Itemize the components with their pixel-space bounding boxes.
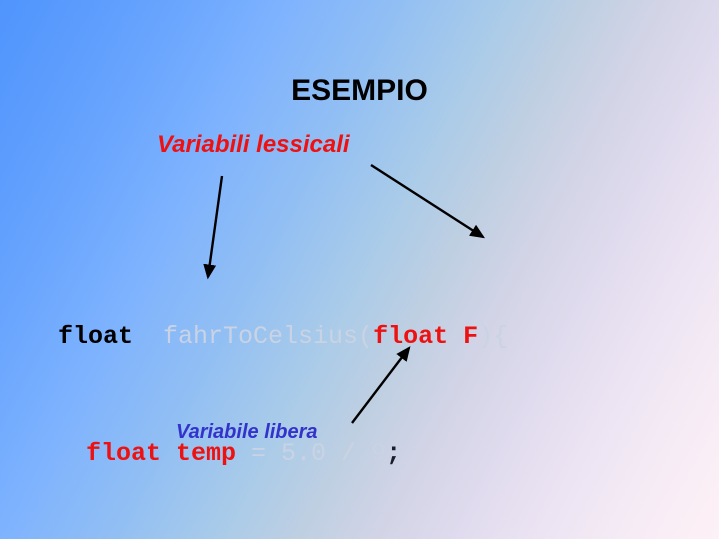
- code-token: ){: [478, 322, 508, 351]
- annotation-label-lexical-variables: Variabili lessicali: [157, 131, 350, 159]
- slide-canvas: ESEMPIO Variabili lessicali Variabile li…: [0, 0, 719, 539]
- code-token: float temp: [86, 439, 236, 468]
- code-token: float: [58, 322, 148, 351]
- code-token: = 5.0 / 9: [236, 439, 386, 468]
- code-token: float F: [373, 322, 478, 351]
- page-title: ESEMPIO: [0, 74, 719, 108]
- code-line: float fahrToCelsius(float F){: [0, 317, 719, 356]
- code-token: fahrToCelsius(: [148, 322, 373, 351]
- code-line: float temp = 5.0 / 9;: [0, 434, 719, 473]
- arrow-lexical-to-float-f: [371, 165, 483, 237]
- code-block: float fahrToCelsius(float F){ float temp…: [0, 239, 719, 539]
- code-token: ;: [386, 439, 401, 468]
